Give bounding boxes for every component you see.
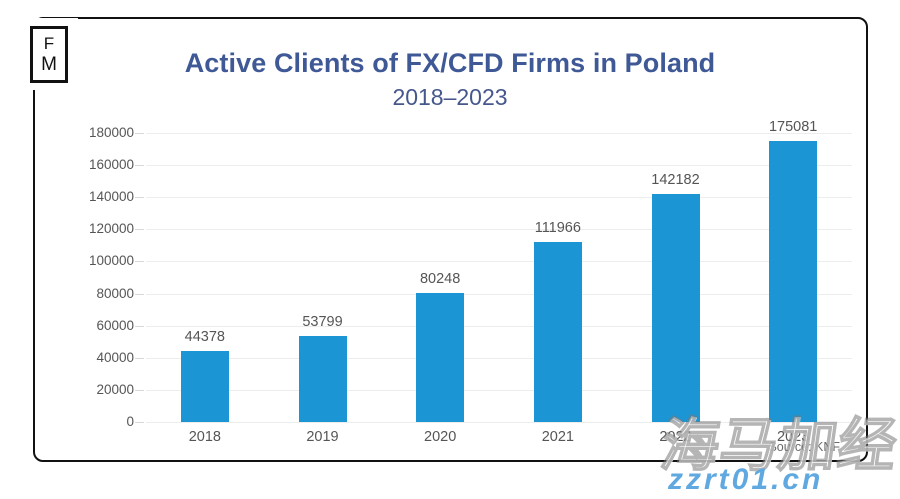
y-axis-tick-label: 80000 <box>14 286 134 301</box>
y-axis-tick-mark <box>135 261 144 262</box>
bar <box>181 351 229 422</box>
y-axis-tick-mark <box>135 326 144 327</box>
y-axis-tick-label: 40000 <box>14 350 134 365</box>
chart-subtitle: 2018–2023 <box>0 84 900 111</box>
chart-canvas: F M Active Clients of FX/CFD Firms in Po… <box>0 0 900 499</box>
bar <box>769 141 817 422</box>
x-axis-tick-label: 2018 <box>155 429 255 445</box>
y-axis-tick-label: 60000 <box>14 318 134 333</box>
source-note: Source: KNF <box>640 440 840 454</box>
y-axis-tick-label: 20000 <box>14 382 134 397</box>
watermark-url: zzrt01.cn <box>668 463 823 497</box>
gridline <box>146 390 852 391</box>
gridline <box>146 358 852 359</box>
chart-title: Active Clients of FX/CFD Firms in Poland <box>0 48 900 79</box>
y-axis-tick-mark <box>135 294 144 295</box>
y-axis-tick-label: 100000 <box>14 253 134 268</box>
bar-value-label: 142182 <box>616 172 736 188</box>
y-axis-tick-mark <box>135 197 144 198</box>
gridline <box>146 294 852 295</box>
y-axis-tick-mark <box>135 358 144 359</box>
x-axis-tick-label: 2019 <box>273 429 373 445</box>
bar-value-label: 111966 <box>498 220 618 236</box>
y-axis-tick-mark <box>135 422 144 423</box>
x-axis-tick-label: 2021 <box>508 429 608 445</box>
gridline <box>146 261 852 262</box>
y-axis-tick-label: 140000 <box>14 189 134 204</box>
y-axis-tick-mark <box>135 133 144 134</box>
x-axis-tick-label: 2020 <box>390 429 490 445</box>
y-axis-tick-label: 160000 <box>14 157 134 172</box>
y-axis-tick-mark <box>135 229 144 230</box>
bar-value-label: 53799 <box>263 314 383 330</box>
y-axis-tick-label: 0 <box>14 414 134 429</box>
y-axis-tick-mark <box>135 165 144 166</box>
gridline <box>146 197 852 198</box>
y-axis-tick-mark <box>135 390 144 391</box>
gridline <box>146 165 852 166</box>
bar-value-label: 80248 <box>380 271 500 287</box>
bar <box>534 242 582 422</box>
bar <box>299 336 347 422</box>
bar <box>652 194 700 422</box>
gridline <box>146 422 852 423</box>
y-axis-tick-label: 120000 <box>14 221 134 236</box>
plot-area: 1800001600001400001200001000008000060000… <box>146 133 852 422</box>
gridline <box>146 326 852 327</box>
bar-value-label: 44378 <box>145 329 265 345</box>
bar <box>416 293 464 422</box>
y-axis-tick-label: 180000 <box>14 125 134 140</box>
bar-value-label: 175081 <box>733 119 853 135</box>
